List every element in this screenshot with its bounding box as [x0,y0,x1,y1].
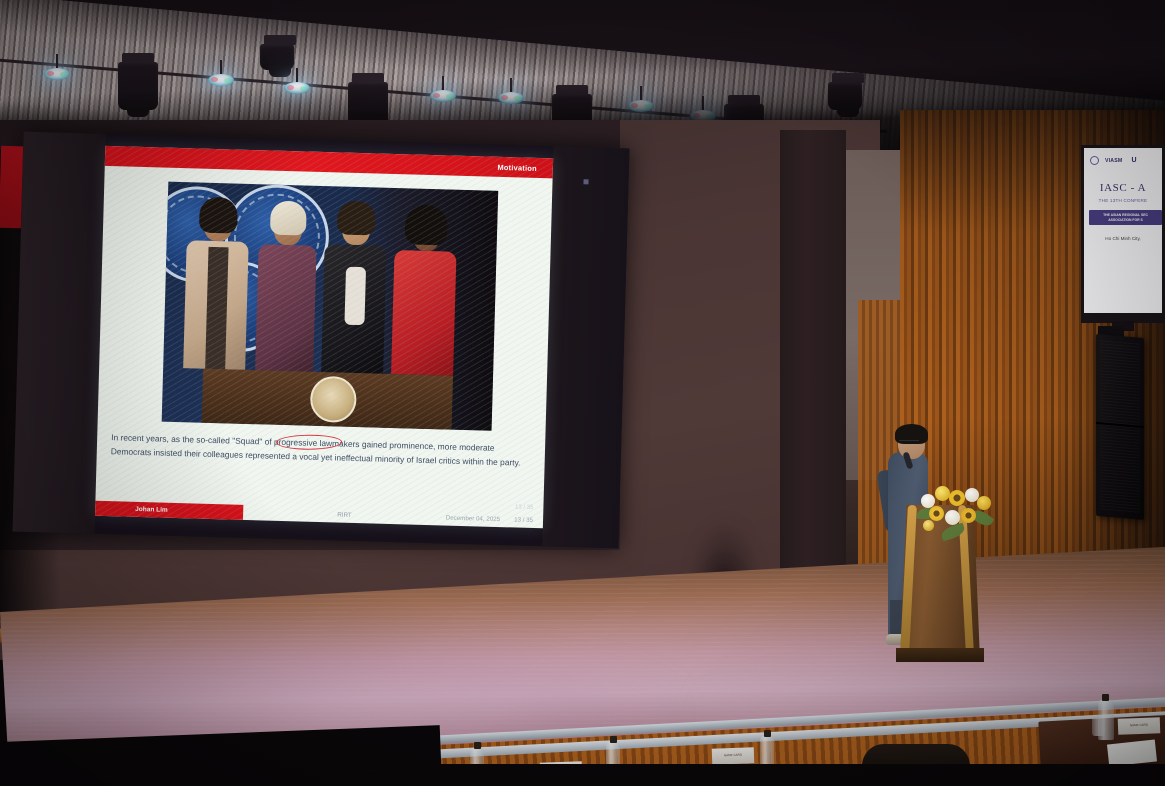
person-3-top-inner [344,267,366,326]
moving-head-light-6 [260,44,294,70]
screen-bezel-right [542,146,629,548]
flower-sunflower [949,490,965,506]
projection-screen: Motivation [13,132,630,549]
name-card-2: NAME CARD [712,747,755,764]
person-1-hair [199,197,238,234]
secondary-logo-text: U [1131,157,1136,164]
slide-footer: Johan Lim RIRT December 04, 2025 13 / 35 [95,501,543,529]
lamp-red-tint [433,93,440,98]
stage-lamp-1 [44,68,70,80]
slide-footer-date: December 04, 2025 [446,515,501,524]
lamp-red-tint [501,95,508,100]
lamp-green-tint [446,94,453,99]
lamp-green-tint [644,104,651,109]
screen-bezel-left [13,132,106,534]
person-2-headwrap [270,201,307,236]
monitor-location: Ho Chi Minh City, [1084,236,1162,241]
monitor-conference-subtitle: THE 13TH CONFERE [1084,198,1162,203]
person-3-hair [337,200,376,235]
slide-footer-page: 13 / 35 [514,516,533,524]
lamp-green-tint [514,96,521,101]
slide-photo [162,182,499,431]
slide-footer-author: Johan Lim [95,501,243,520]
viasm-logo-icon [1090,156,1099,165]
lamp-red-tint [693,113,700,118]
flower-sunflower [961,508,976,523]
flower-leaf [940,523,967,542]
wall-pillar [780,130,846,630]
stage-lamp-6 [628,100,654,112]
presenter-glasses-icon [899,440,919,445]
moving-head-light-1 [118,62,158,110]
lamp-green-tint [224,78,231,83]
stage-lamp-5 [498,92,524,104]
pa-line-array-speaker [1096,334,1144,520]
flower-yellow [935,486,950,501]
lamp-red-tint [287,85,294,90]
lectern-base [896,648,984,662]
lamp-green-tint [706,114,713,119]
slide-section-banner: Motivation [105,146,553,179]
photo-person-2 [255,194,318,372]
presentation-slide: Motivation [95,146,553,528]
photo-person-1 [183,196,250,370]
flower-yellow-small [923,520,934,531]
person-2-jacket [255,244,316,372]
monitor-logo-row: VIASM U [1090,156,1158,165]
monitor-conference-title: IASC - A [1084,182,1162,194]
slide-section-label: Motivation [497,162,553,173]
slide-footer-center: RIRT [243,509,446,522]
screen-corner-marker-icon [583,179,588,184]
lamp-red-tint [631,103,638,108]
person-4-hair [405,204,448,245]
drinking-glass [1092,718,1105,736]
stage-lamp-2 [208,74,234,86]
flower-yellow [977,496,991,510]
lamp-green-tint [60,72,67,77]
flower-yellow [969,522,982,535]
slide-page-number-faded: 13 / 35 [515,504,534,511]
lamp-green-tint [300,86,307,91]
screen-left-red-accent [0,146,23,229]
monitor-association-band: THE ASIAN REGIONAL SEC ASSOCIATION FOR S [1089,210,1162,225]
photo-person-4 [391,196,458,376]
lamp-red-tint [47,71,54,76]
person-1-inner-top [205,247,228,370]
flower-white [945,510,960,525]
moving-head-light-5 [828,82,862,110]
monitor-screen: VIASM U IASC - A THE 13TH CONFERE THE AS… [1084,148,1162,313]
flower-sunflower [929,506,944,521]
photo-person-3 [321,192,388,374]
conference-hall-photo: VIASM U IASC - A THE 13TH CONFERE THE AS… [0,0,1165,786]
person-4-blouse [391,250,456,376]
viasm-logo-text: VIASM [1105,158,1122,164]
stage-lamp-4 [430,90,456,102]
band-line-2: ASSOCIATION FOR S [1092,218,1159,223]
slide-footer-right: December 04, 2025 13 / 35 [446,515,543,525]
side-confidence-monitor: VIASM U IASC - A THE 13TH CONFERE THE AS… [1081,145,1165,323]
name-card-3: NAME CARD [1118,717,1161,734]
lamp-red-tint [211,77,218,82]
stage-lamp-3 [284,82,310,94]
flower-arrangement [915,482,993,540]
